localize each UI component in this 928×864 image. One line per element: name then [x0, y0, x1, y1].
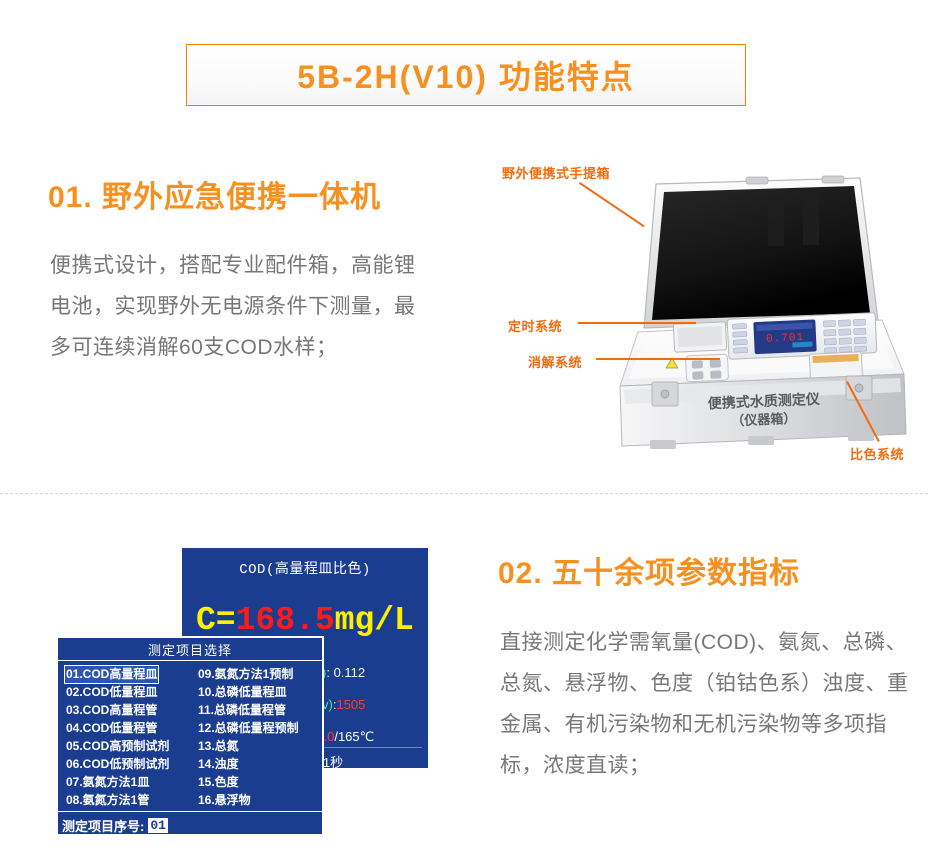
- section-02-body: 直接测定化学需氧量(COD)、氨氮、总磷、总氮、悬浮物、色度（铂钴色系）浊度、重…: [500, 622, 912, 786]
- lcd-temperature-target: /165℃: [334, 729, 374, 744]
- instrument-case-illustration: 0.701: [560, 168, 928, 468]
- callout-label-colorimetry-system: 比色系统: [850, 444, 904, 463]
- case-lid: [644, 176, 878, 328]
- lcd-result-line: C=168.5mg/L: [196, 602, 414, 639]
- menu-item-05[interactable]: 05.COD高预制试剂: [65, 738, 170, 755]
- menu-item-15[interactable]: 15.色度: [197, 774, 240, 791]
- section-02-heading: 02. 五十余项参数指标: [498, 548, 800, 592]
- page-title: 5B-2H(V10) 功能特点: [297, 52, 635, 98]
- dialog-column-left: 01.COD高量程皿 02.COD低量程皿 03.COD高量程管 04.COD低…: [58, 665, 190, 811]
- callout-leader-timer: [578, 322, 696, 324]
- dialog-footer-label: 测定项目序号:: [62, 816, 144, 835]
- case-front-line2: （仪器箱）: [731, 411, 797, 429]
- section-01-body: 便携式设计，搭配专业配件箱，高能锂电池，实现野外无电源条件下测量，最多可连续消解…: [50, 245, 420, 368]
- callout-label-timing-system: 定时系统: [508, 316, 562, 335]
- menu-item-06[interactable]: 06.COD低预制试剂: [65, 756, 170, 773]
- lcd-result-value: 168.5: [236, 602, 335, 639]
- menu-item-03[interactable]: 03.COD高量程管: [65, 702, 158, 719]
- menu-item-10[interactable]: 10.总磷低量程皿: [197, 684, 288, 701]
- menu-item-04[interactable]: 04.COD低量程管: [65, 720, 158, 737]
- menu-item-01[interactable]: 01.COD高量程皿: [65, 666, 158, 683]
- lcd-result-prefix: C=: [196, 602, 236, 639]
- lcd-curve-value: 1505: [336, 697, 365, 712]
- product-photo: 0.701: [560, 168, 928, 468]
- menu-item-14[interactable]: 14.浊度: [197, 756, 240, 773]
- lcd-absorbance-sep: :: [326, 665, 333, 680]
- menu-item-16[interactable]: 16.悬浮物: [197, 792, 252, 809]
- menu-item-07[interactable]: 07.氨氮方法1皿: [65, 774, 150, 791]
- callout-label-digestion-system: 消解系统: [528, 352, 582, 371]
- dialog-footer: 测定项目序号: 01: [58, 811, 322, 838]
- measurement-item-select-dialog[interactable]: 测定项目选择 01.COD高量程皿 02.COD低量程皿 03.COD高量程管 …: [56, 636, 324, 836]
- section-01-heading: 01. 野外应急便携一体机: [48, 172, 381, 216]
- lcd-absorbance-value: 0.112: [334, 665, 366, 680]
- dialog-selected-index-field[interactable]: 01: [148, 818, 168, 833]
- callout-leader-digest: [596, 358, 720, 360]
- dialog-title: 测定项目选择: [58, 638, 322, 661]
- menu-item-11[interactable]: 11.总磷低量程管: [197, 702, 287, 719]
- page-title-box: 5B-2H(V10) 功能特点: [186, 44, 746, 106]
- dialog-column-right: 09.氨氮方法1预制 10.总磷低量程皿 11.总磷低量程管 12.总磷低量程预…: [190, 665, 322, 811]
- menu-item-13[interactable]: 13.总氮: [197, 738, 240, 755]
- menu-item-09[interactable]: 09.氨氮方法1预制: [197, 666, 294, 683]
- menu-item-08[interactable]: 08.氨氮方法1管: [65, 792, 150, 809]
- lcd-measurement-mode-title: COD(高量程皿比色): [182, 558, 428, 578]
- dialog-item-grid: 01.COD高量程皿 02.COD低量程皿 03.COD高量程管 04.COD低…: [58, 661, 322, 811]
- menu-item-02[interactable]: 02.COD低量程皿: [65, 684, 158, 701]
- lcd-result-unit: mg/L: [335, 602, 414, 639]
- section-divider: [0, 493, 928, 494]
- callout-label-portable-case: 野外便携式手提箱: [502, 163, 610, 182]
- menu-item-12[interactable]: 12.总磷低量程预制: [197, 720, 300, 737]
